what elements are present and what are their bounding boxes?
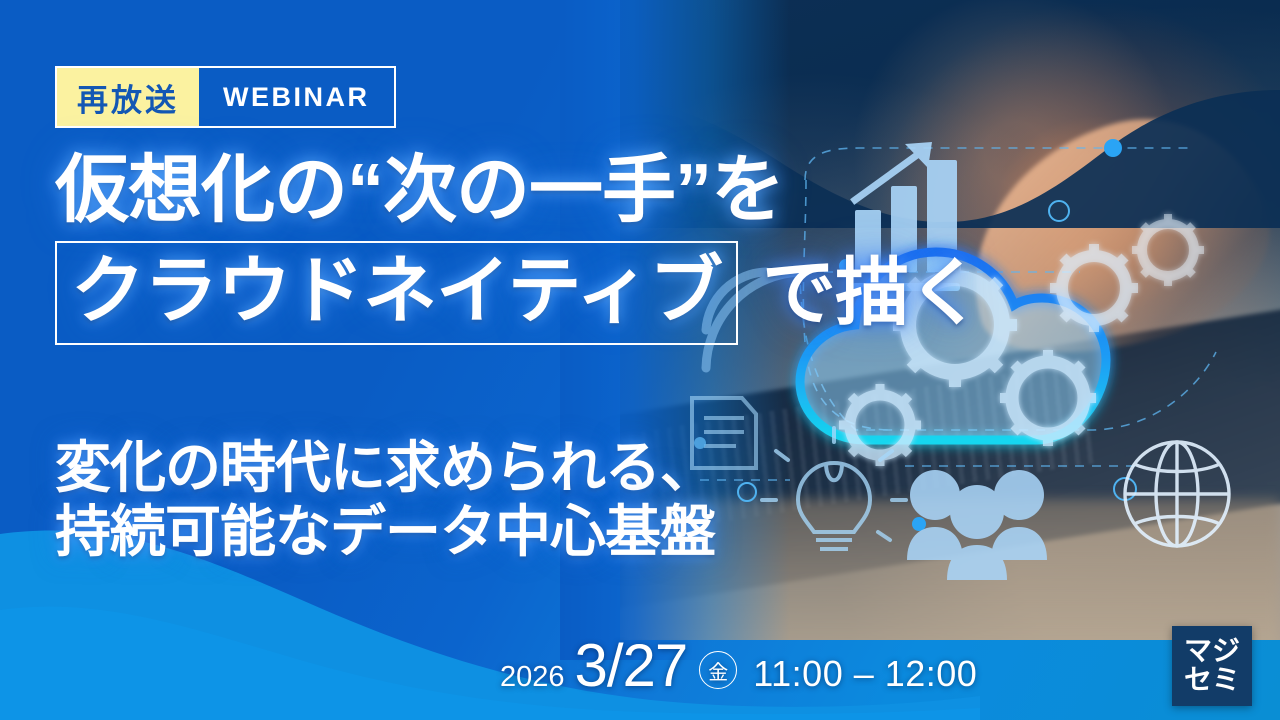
subtitle-line-1: 変化の時代に求められる、 xyxy=(55,436,715,500)
headline-line-2: クラウドネイティブ で描く xyxy=(55,241,1065,345)
headline-line-1: 仮想化の“次の一手”を xyxy=(55,152,1065,227)
headline-boxed-term-text: クラウドネイティブ xyxy=(71,254,722,328)
headline: 仮想化の“次の一手”を クラウドネイティブ で描く xyxy=(55,152,1065,345)
subtitle-line-2: 持続可能なデータ中心基盤 xyxy=(55,500,715,564)
headline-line-2-suffix: で描く xyxy=(762,256,981,330)
logo-line-2: セミ xyxy=(1184,666,1240,695)
schedule: 2026 3/27 金 11:00 – 12:00 xyxy=(500,636,977,696)
badge-webinar-label: WEBINAR xyxy=(199,68,394,126)
webinar-banner: 再放送 WEBINAR 仮想化の“次の一手”を クラウドネイティブ で描く 変化… xyxy=(0,0,1280,720)
majisemi-logo: マジ セミ xyxy=(1172,626,1252,706)
logo-line-1: マジ xyxy=(1184,637,1240,666)
badge: 再放送 WEBINAR xyxy=(55,66,396,128)
subtitle: 変化の時代に求められる、 持続可能なデータ中心基盤 xyxy=(55,436,715,564)
headline-boxed-term: クラウドネイティブ xyxy=(55,241,738,345)
schedule-day-of-week: 金 xyxy=(699,651,737,689)
schedule-year: 2026 xyxy=(500,661,565,694)
badge-rerun-label: 再放送 xyxy=(57,68,199,126)
schedule-time: 11:00 – 12:00 xyxy=(753,653,977,695)
schedule-date: 3/27 xyxy=(575,636,688,696)
